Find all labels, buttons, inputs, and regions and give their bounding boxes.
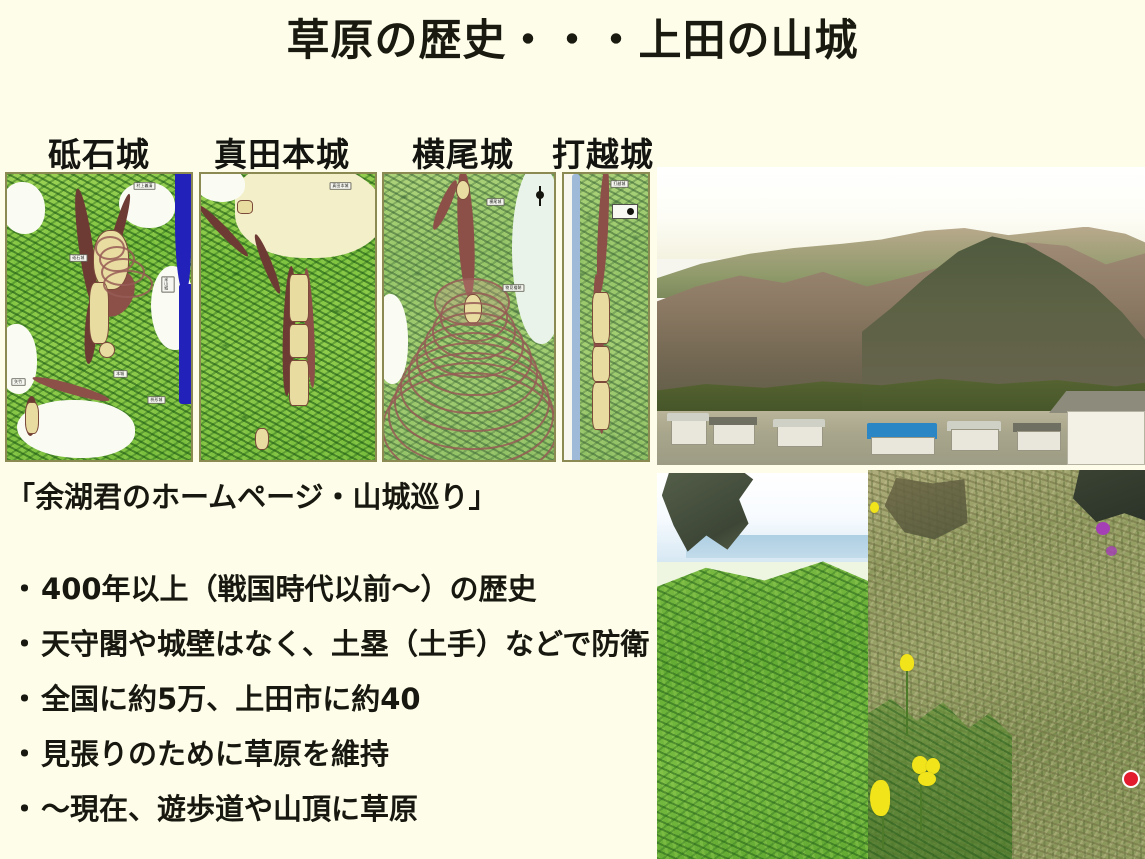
flower-stem <box>906 666 908 736</box>
map-label: 打越城 <box>610 180 628 188</box>
source-caption: 「余湖君のホームページ・山城巡り」 <box>6 474 498 516</box>
map-label: 村上義清 <box>134 182 156 190</box>
page-title: 草原の歴史・・・上田の山城 <box>0 16 1145 68</box>
map-contour <box>103 270 153 298</box>
purple-flower <box>1096 522 1110 535</box>
castle-name-yokoo: 横尾城 <box>412 128 514 176</box>
castle-name-row: 砥石城 真田本城 横尾城 打越城 <box>0 128 700 172</box>
yellow-flower <box>918 772 936 786</box>
bullet-item: ・見張りのために草原を維持 <box>10 740 650 769</box>
bullet-text: 全国に約5万、上田市に約40 <box>41 682 421 716</box>
map-castle-keep <box>255 428 269 450</box>
bullet-list: ・400年以上（戦国時代以前～）の歴史 ・天守閣や城壁はなく、土塁（土手）などで… <box>10 575 650 850</box>
bullet-marker: ・ <box>10 682 39 716</box>
map-castle-keep <box>289 274 309 322</box>
roof <box>667 413 709 421</box>
bullet-text: ～現在、遊歩道や山頂に草原 <box>41 792 418 826</box>
roof <box>773 419 825 427</box>
map-castle-keep <box>592 346 610 382</box>
map-label: 矢竹 <box>11 378 25 386</box>
map-castle-keep <box>237 200 253 214</box>
map-castle-keep <box>99 342 115 358</box>
castle-map-yokoo[interactable]: 横尾城 物見櫓跡 <box>382 172 556 462</box>
map-castle-keep <box>289 324 309 358</box>
castle-name-uchikoshi: 打越城 <box>552 128 654 176</box>
map-castle-keep <box>592 292 610 344</box>
yellow-flower <box>870 502 879 513</box>
map-castle-keep <box>592 382 610 430</box>
castle-name-sanadahonjo: 真田本城 <box>214 128 350 176</box>
purple-flower <box>1106 546 1117 556</box>
village-foreground <box>657 411 1145 465</box>
bullet-item: ・～現在、遊歩道や山頂に草原 <box>10 795 650 824</box>
map-river <box>175 174 191 294</box>
map-label: 砥石城 <box>69 254 87 262</box>
castle-map-toishi[interactable]: 村上義清 砥石城 米山城 本城 枡形城 矢竹 <box>5 172 193 462</box>
yellow-flower <box>900 654 914 671</box>
compass-north-icon <box>612 204 638 219</box>
mountain-village-photo <box>657 167 1145 465</box>
house <box>1067 411 1145 465</box>
slide-canvas: 草原の歴史・・・上田の山城 砥石城 真田本城 横尾城 打越城 村上義清 砥石城 … <box>0 0 1145 859</box>
house <box>671 419 707 445</box>
map-label: 横尾城 <box>486 198 504 206</box>
map-castle-keep <box>456 180 470 200</box>
map-label: 米山城 <box>161 276 174 292</box>
roof <box>709 417 757 425</box>
map-label: 枡形城 <box>147 396 165 404</box>
bullet-marker: ・ <box>10 572 39 606</box>
bullet-text: 400年以上（戦国時代以前～）の歴史 <box>41 572 537 606</box>
bullet-item: ・天守閣や城壁はなく、土塁（土手）などで防衛 <box>10 630 650 659</box>
map-open-area <box>199 172 245 202</box>
map-label: 本城 <box>113 370 127 378</box>
house <box>777 425 823 447</box>
house <box>713 423 755 445</box>
yellow-flower <box>870 780 890 816</box>
castle-map-uchikoshi[interactable]: 打越城 <box>562 172 650 462</box>
map-river <box>572 174 580 462</box>
bullet-marker: ・ <box>10 737 39 771</box>
house <box>951 429 999 451</box>
bullet-text: 天守閣や城壁はなく、土塁（土手）などで防衛 <box>41 627 649 661</box>
map-label: 物見櫓跡 <box>503 284 525 292</box>
map-castle-keep <box>289 360 309 406</box>
bullet-item: ・全国に約5万、上田市に約40 <box>10 685 650 714</box>
house <box>1017 431 1061 451</box>
castle-map-sanadahonjo[interactable]: 真田本城 <box>199 172 377 462</box>
map-label: 真田本城 <box>330 182 352 190</box>
bullet-marker: ・ <box>10 792 39 826</box>
flower-grassland-photo <box>868 470 1145 859</box>
bullet-text: 見張りのために草原を維持 <box>41 737 389 771</box>
map-open-area <box>5 182 45 234</box>
compass-north-icon <box>539 186 541 206</box>
bullet-marker: ・ <box>10 627 39 661</box>
map-river <box>179 284 193 404</box>
red-flower <box>1122 770 1140 788</box>
bullet-item: ・400年以上（戦国時代以前～）の歴史 <box>10 575 650 604</box>
map-castle-keep <box>25 402 39 434</box>
house <box>871 437 935 455</box>
castle-name-toishi: 砥石城 <box>48 128 150 176</box>
